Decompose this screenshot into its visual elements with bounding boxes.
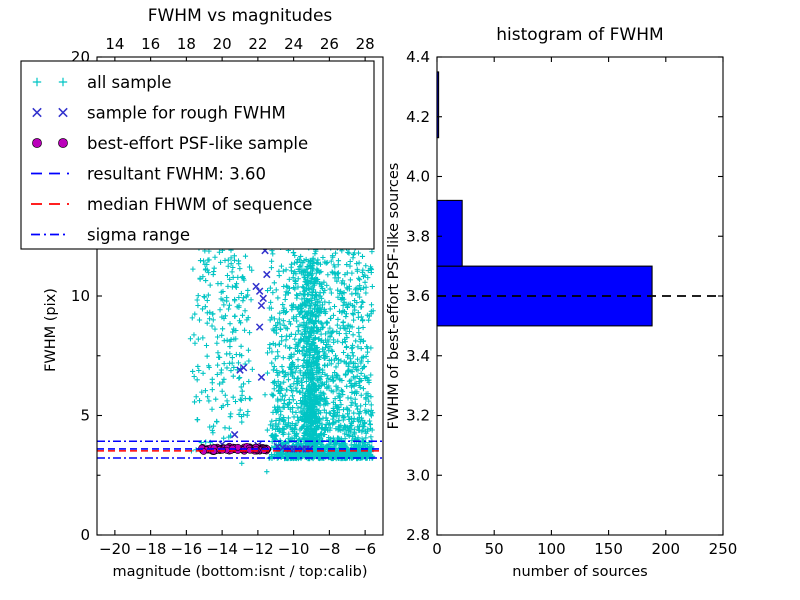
left-xticklabel-top: 14 — [105, 35, 124, 53]
matplotlib-figure: −20−18−16−14−12−10−8−6141618202224262805… — [0, 0, 800, 600]
left-yticklabel: 5 — [80, 407, 90, 425]
right-yticklabel: 3.4 — [406, 347, 430, 365]
right-xticklabel: 50 — [485, 540, 504, 558]
right-xticklabel: 200 — [651, 540, 680, 558]
right-xticklabel: 100 — [537, 540, 566, 558]
left-xticklabel-bottom: −6 — [354, 540, 376, 558]
left-xaxis-label: magnitude (bottom:isnt / top:calib) — [112, 564, 367, 580]
legend-box — [21, 61, 374, 249]
right-panel-histogram: 0501001502002502.83.03.23.43.63.84.04.24… — [386, 25, 737, 580]
right-yticklabel: 4.4 — [406, 48, 430, 66]
left-xticklabel-bottom: −16 — [171, 540, 203, 558]
right-yticklabel: 4.2 — [406, 108, 430, 126]
left-xticklabel-top: 20 — [213, 35, 232, 53]
right-yticklabel: 3.8 — [406, 227, 430, 245]
left-xticklabel-top: 22 — [248, 35, 267, 53]
left-xticklabel-bottom: −12 — [242, 540, 274, 558]
left-xticklabel-bottom: −8 — [318, 540, 340, 558]
legend-label: sigma range — [87, 226, 190, 245]
figure-canvas: −20−18−16−14−12−10−8−6141618202224262805… — [0, 0, 800, 600]
left-xticklabel-top: 18 — [177, 35, 196, 53]
left-xticklabel-bottom: −20 — [99, 540, 131, 558]
left-xticklabel-bottom: −14 — [206, 540, 238, 558]
legend-label: median FHWM of sequence — [87, 195, 312, 214]
right-xaxis-label: number of sources — [512, 564, 648, 580]
legend-label: sample for rough FWHM — [87, 104, 286, 123]
left-xticklabel-top: 24 — [284, 35, 303, 53]
circle-marker — [32, 138, 41, 147]
legend-label: all sample — [87, 73, 172, 92]
left-xticklabel-top: 26 — [320, 35, 339, 53]
left-xticklabel-bottom: −10 — [278, 540, 310, 558]
right-yticklabel: 3.6 — [406, 287, 430, 305]
circle-marker — [58, 138, 67, 147]
left-yticklabel: 0 — [80, 526, 90, 544]
right-yticklabel: 3.0 — [406, 466, 430, 484]
left-yticklabel: 10 — [71, 287, 90, 305]
right-yticklabel: 3.2 — [406, 407, 430, 425]
right-yaxis-label: FWHM of best-effort PSF-like sources — [386, 163, 402, 430]
legend: all samplesample for rough FWHMbest-effo… — [21, 61, 374, 249]
legend-label: resultant FWHM: 3.60 — [87, 165, 266, 184]
left-panel-title: FWHM vs magnitudes — [148, 6, 333, 26]
left-yaxis-label: FWHM (pix) — [43, 288, 59, 372]
right-panel-title: histogram of FWHM — [496, 25, 663, 45]
left-xticklabel-top: 16 — [141, 35, 160, 53]
legend-label: best-effort PSF-like sample — [87, 134, 308, 153]
right-xticklabel: 250 — [709, 540, 738, 558]
left-xticklabel-top: 28 — [356, 35, 375, 53]
histogram-bar — [437, 200, 462, 266]
left-xticklabel-bottom: −18 — [135, 540, 167, 558]
right-xticklabel: 0 — [432, 540, 442, 558]
right-yticklabel: 4.0 — [406, 168, 430, 186]
right-yticklabel: 2.8 — [406, 526, 430, 544]
right-xticklabel: 150 — [594, 540, 623, 558]
